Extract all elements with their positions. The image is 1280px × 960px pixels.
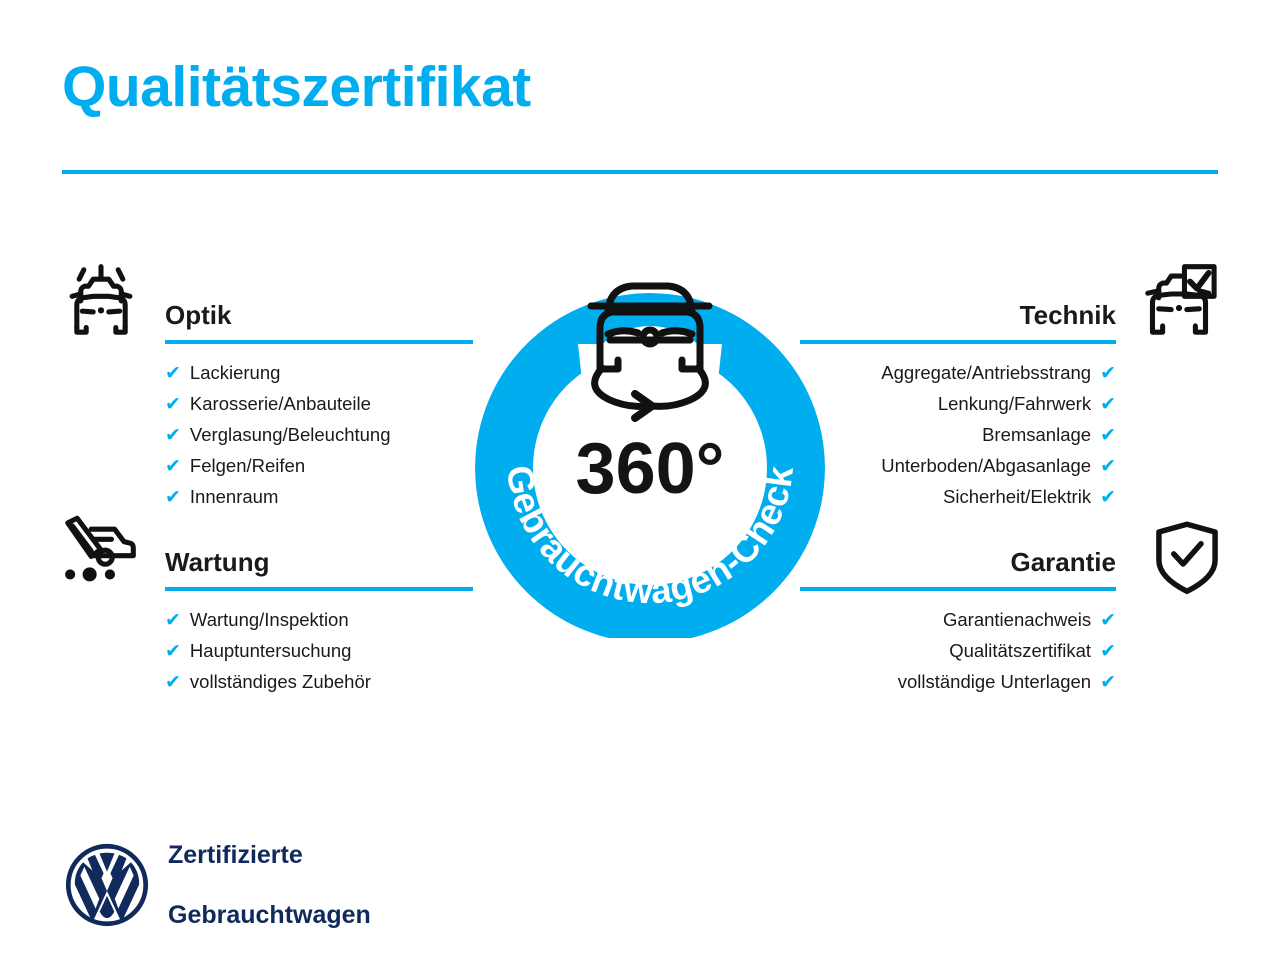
section-technik-list: Aggregate/Antriebsstrang✔ Lenkung/Fahrwe… <box>800 358 1116 513</box>
section-wartung-title: Wartung <box>165 545 473 579</box>
section-technik-divider <box>800 340 1116 344</box>
list-item-label: vollständige Unterlagen <box>898 667 1091 697</box>
section-optik-header: Optik <box>165 298 473 344</box>
check-icon: ✔ <box>1100 637 1116 667</box>
shield-check-icon <box>1148 518 1226 596</box>
list-item-label: Wartung/Inspektion <box>190 605 349 635</box>
list-item: ✔Hauptuntersuchung <box>165 636 473 667</box>
check-icon: ✔ <box>165 359 181 389</box>
section-garantie-list: Garantienachweis✔ Qualitätszertifikat✔ v… <box>800 605 1116 698</box>
footer-lockup: Zertifizierte Gebrauchtwagen <box>64 810 371 960</box>
list-item: ✔Felgen/Reifen <box>165 451 473 482</box>
list-item: Lenkung/Fahrwerk✔ <box>800 389 1116 420</box>
section-technik-header: Technik <box>800 298 1116 344</box>
list-item-label: Innenraum <box>190 482 278 512</box>
list-item-label: Unterboden/Abgasanlage <box>881 451 1091 481</box>
list-item: Bremsanlage✔ <box>800 420 1116 451</box>
check-icon: ✔ <box>165 483 181 513</box>
check-icon: ✔ <box>1100 421 1116 451</box>
car-checkbox-icon <box>1140 262 1218 340</box>
section-garantie: Garantie Garantienachweis✔ Qualitätszert… <box>800 545 1116 698</box>
section-garantie-header: Garantie <box>800 545 1116 591</box>
section-optik-title: Optik <box>165 298 473 332</box>
section-optik-divider <box>165 340 473 344</box>
check-icon: ✔ <box>1100 452 1116 482</box>
section-garantie-title: Garantie <box>800 545 1116 579</box>
pencil-car-service-icon <box>60 512 138 590</box>
section-technik-title: Technik <box>800 298 1116 332</box>
check-icon: ✔ <box>165 390 181 420</box>
section-optik: Optik ✔Lackierung ✔Karosserie/Anbauteile… <box>165 298 473 513</box>
page-title: Qualitätszertifikat <box>62 56 531 119</box>
list-item: Unterboden/Abgasanlage✔ <box>800 451 1116 482</box>
list-item: Qualitätszertifikat✔ <box>800 636 1116 667</box>
section-garantie-divider <box>800 587 1116 591</box>
badge-center-label: 360° <box>576 429 725 509</box>
check-icon: ✔ <box>165 452 181 482</box>
list-item-label: Felgen/Reifen <box>190 451 305 481</box>
list-item: ✔Verglasung/Beleuchtung <box>165 420 473 451</box>
list-item: ✔Innenraum <box>165 482 473 513</box>
check-icon: ✔ <box>1100 668 1116 698</box>
list-item: vollständige Unterlagen✔ <box>800 667 1116 698</box>
list-item-label: Karosserie/Anbauteile <box>190 389 371 419</box>
badge-360-gebrauchtwagen-check: Gebrauchtwagen-Check 360° <box>460 248 840 638</box>
list-item: ✔Karosserie/Anbauteile <box>165 389 473 420</box>
section-wartung: Wartung ✔Wartung/Inspektion ✔Hauptunters… <box>165 545 473 698</box>
vw-roundel-icon <box>64 842 150 928</box>
check-icon: ✔ <box>1100 359 1116 389</box>
list-item-label: Qualitätszertifikat <box>949 636 1091 666</box>
list-item: ✔Lackierung <box>165 358 473 389</box>
list-item-label: Hauptuntersuchung <box>190 636 351 666</box>
check-icon: ✔ <box>165 606 181 636</box>
check-icon: ✔ <box>1100 390 1116 420</box>
check-icon: ✔ <box>165 668 181 698</box>
list-item-label: vollständiges Zubehör <box>190 667 371 697</box>
section-wartung-divider <box>165 587 473 591</box>
list-item: Garantienachweis✔ <box>800 605 1116 636</box>
check-icon: ✔ <box>1100 483 1116 513</box>
check-icon: ✔ <box>1100 606 1116 636</box>
footer-wordmark-line2: Gebrauchtwagen <box>168 900 371 930</box>
list-item: ✔vollständiges Zubehör <box>165 667 473 698</box>
list-item-label: Garantienachweis <box>943 605 1091 635</box>
list-item-label: Aggregate/Antriebsstrang <box>881 358 1091 388</box>
section-optik-list: ✔Lackierung ✔Karosserie/Anbauteile ✔Verg… <box>165 358 473 513</box>
list-item-label: Bremsanlage <box>982 420 1091 450</box>
list-item: Aggregate/Antriebsstrang✔ <box>800 358 1116 389</box>
list-item: Sicherheit/Elektrik✔ <box>800 482 1116 513</box>
list-item-label: Lackierung <box>190 358 281 388</box>
footer-wordmark: Zertifizierte Gebrauchtwagen <box>168 810 371 960</box>
check-icon: ✔ <box>165 637 181 667</box>
check-icon: ✔ <box>165 421 181 451</box>
section-wartung-list: ✔Wartung/Inspektion ✔Hauptuntersuchung ✔… <box>165 605 473 698</box>
section-wartung-header: Wartung <box>165 545 473 591</box>
list-item-label: Verglasung/Beleuchtung <box>190 420 391 450</box>
list-item: ✔Wartung/Inspektion <box>165 605 473 636</box>
list-item-label: Lenkung/Fahrwerk <box>938 389 1091 419</box>
header-divider <box>62 170 1218 174</box>
section-technik: Technik Aggregate/Antriebsstrang✔ Lenkun… <box>800 298 1116 513</box>
list-item-label: Sicherheit/Elektrik <box>943 482 1091 512</box>
car-shine-icon <box>62 262 140 340</box>
footer-wordmark-line1: Zertifizierte <box>168 840 371 870</box>
